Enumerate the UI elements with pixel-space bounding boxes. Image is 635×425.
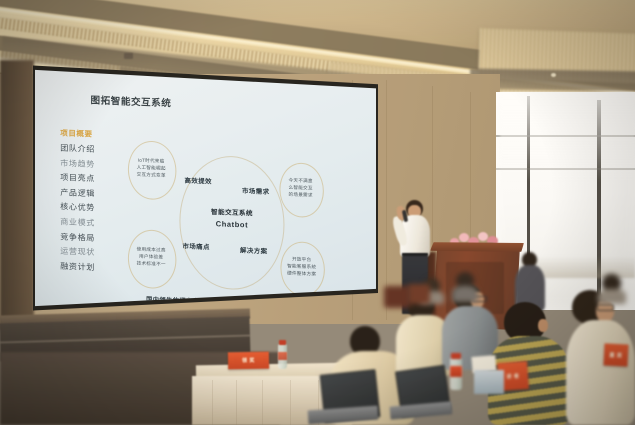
glasses-icon	[597, 304, 614, 311]
diagram-bubble-text-3: 使用成本过高 用户体验差 技术标准不一	[128, 245, 174, 268]
slide-sidebar: 项目概要 团队介绍 市场趋势 项目亮点 产品逻辑 核心优势 商业模式 竞争格局 …	[60, 127, 121, 277]
namecard-text: 领 奖	[228, 352, 269, 370]
sidebar-item-1: 市场趋势	[60, 157, 121, 170]
chair-back	[408, 284, 430, 304]
attendee-ear	[538, 319, 548, 332]
tablecloth-fold	[212, 380, 213, 425]
wall-left-dark	[0, 60, 34, 330]
window-glare	[500, 92, 635, 182]
diagram-node-4: 解决方案	[240, 245, 267, 255]
bottle-label	[450, 366, 462, 377]
diagram-bubble-text-2: 今天不满意 么智能交互 的场景需求	[279, 176, 321, 199]
sidebar-item-7: 运营现状	[60, 246, 121, 259]
diagram-bubble-text-4: 开放平台 智能客服系统 硬件整体方案	[280, 255, 322, 278]
attendee-back-row	[452, 272, 478, 302]
chair-back	[384, 286, 410, 308]
conference-photo: 图拓智能交互系统 项目概要 团队介绍 市场趋势 项目亮点 产品逻辑 核心优势 商…	[0, 0, 635, 425]
sidebar-item-2: 项目亮点	[60, 172, 121, 185]
diagram-core-label: 智能交互系统 Chatbot	[192, 207, 273, 231]
sidebar-item-4: 核心优势	[60, 201, 121, 214]
screen-surface: 图拓智能交互系统 项目概要 团队介绍 市场趋势 项目亮点 产品逻辑 核心优势 商…	[35, 65, 376, 311]
attendee-back-row	[598, 274, 626, 304]
sidebar-item-8: 融资计划	[60, 260, 121, 273]
slide-content: 图拓智能交互系统 项目概要 团队介绍 市场趋势 项目亮点 产品逻辑 核心优势 商…	[35, 65, 376, 311]
table-namecard: 嘉 宾	[603, 343, 628, 366]
table-box	[474, 370, 504, 394]
attendee-torso	[452, 286, 478, 302]
bottle-cap-icon	[279, 340, 286, 345]
sidebar-item-5: 商业模式	[60, 216, 121, 229]
attendee-shirt	[566, 320, 635, 425]
sidebar-highlight: 项目概要	[60, 127, 121, 140]
ceiling-spot-icon	[551, 73, 556, 77]
diagram-bubble-text-1: IoT时代来临 人工智能崛起 交互方式变革	[128, 156, 174, 179]
slide-title: 图拓智能交互系统	[91, 92, 172, 109]
bottle-cap-icon	[451, 353, 461, 359]
namecard-text: 嘉 宾	[603, 343, 628, 366]
sidebar-item-6: 竞争格局	[60, 231, 121, 244]
attendee-torso	[598, 289, 626, 304]
diagram-node-2: 市场需求	[242, 186, 269, 196]
tablecloth-fold	[290, 380, 291, 425]
sidebar-item-0: 团队介绍	[60, 143, 121, 156]
tablecloth-fold	[236, 380, 237, 425]
diagram-node-1: 高效提效	[184, 176, 211, 186]
tablecloth-fold	[262, 380, 263, 425]
podium-top-surface	[430, 242, 524, 252]
table-namecard: 领 奖	[228, 352, 269, 370]
bottle-label	[278, 352, 287, 360]
speaker-belt	[402, 253, 428, 256]
wall-seam-2	[386, 80, 387, 320]
sidebar-item-3: 产品逻辑	[60, 187, 121, 200]
projection-screen: 图拓智能交互系统 项目概要 团队介绍 市场趋势 项目亮点 产品逻辑 核心优势 商…	[33, 63, 378, 313]
diagram-node-3: 市场痛点	[182, 241, 209, 251]
